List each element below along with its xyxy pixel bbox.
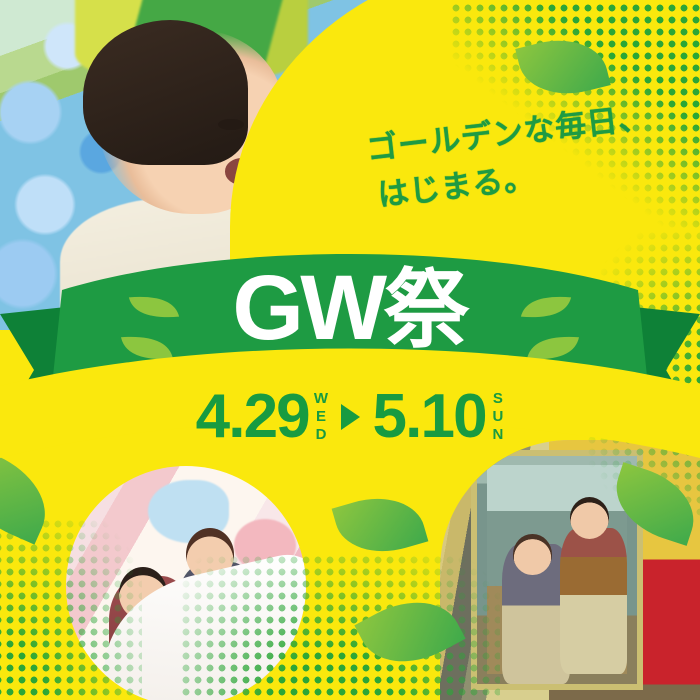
date-range: 4.29 WED 5.10 SUN (0, 386, 700, 448)
child-right-body (560, 528, 628, 674)
child-left-head (513, 534, 552, 576)
end-weekday-letters: SUN (490, 390, 505, 444)
banner-title-kanji: 祭 (383, 262, 467, 358)
banner-title-latin: GW (232, 257, 383, 359)
two-children-on-slide-photo (66, 466, 306, 700)
start-weekday-letters: WED (313, 390, 328, 444)
start-weekday: WED (313, 386, 328, 444)
end-date: 5.10 (373, 386, 486, 448)
triangle-right-icon (341, 404, 360, 430)
gw-festival-poster: ゴールデンな毎日、 はじまる。 GW祭 4.29 WE (0, 0, 700, 700)
end-weekday: SUN (490, 386, 505, 444)
child-right-head (570, 497, 609, 539)
leaf-icon-center-bottom (332, 486, 429, 565)
banner-title: GW祭 (0, 262, 700, 354)
start-date: 4.29 (196, 386, 309, 448)
two-children-in-train-doorway-photo (440, 440, 700, 700)
